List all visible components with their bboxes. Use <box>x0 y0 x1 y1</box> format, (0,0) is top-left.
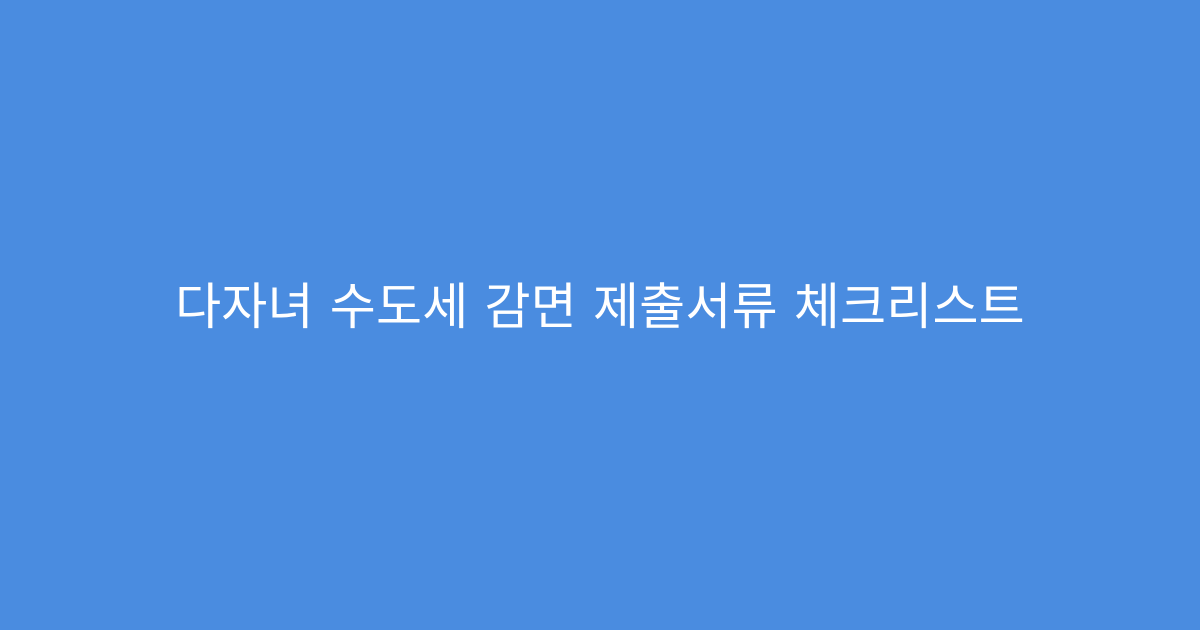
page-title: 다자녀 수도세 감면 제출서류 체크리스트 <box>175 275 1025 339</box>
share-card-content: 다자녀 수도세 감면 제출서류 체크리스트 <box>90 275 1110 339</box>
share-card: 다자녀 수도세 감면 제출서류 체크리스트 <box>0 0 1200 630</box>
